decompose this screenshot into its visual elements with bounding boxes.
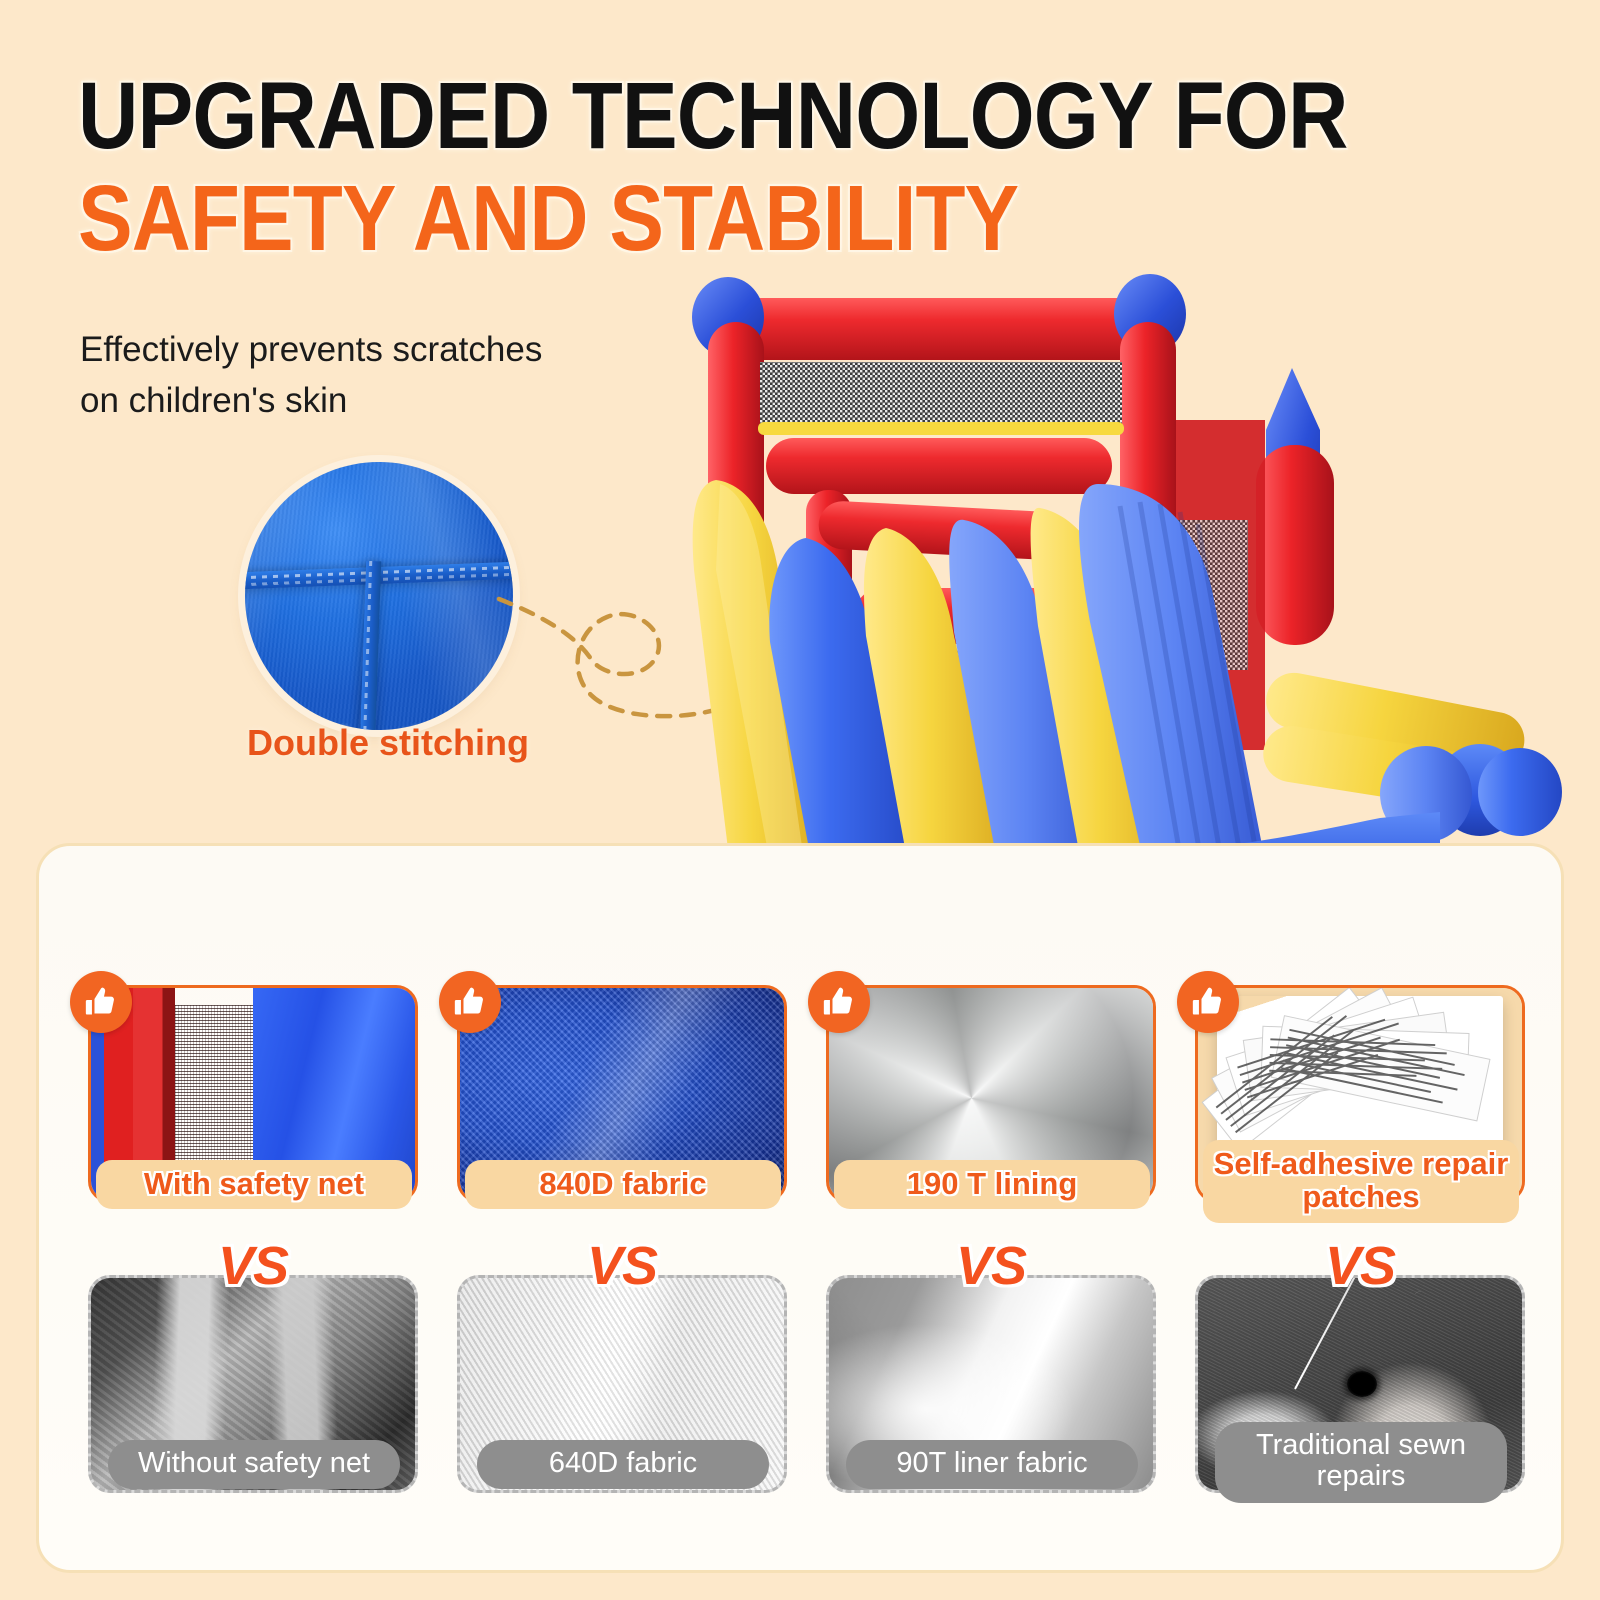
comparison-column-fabric-denier: 840D fabric VS 640D fabric xyxy=(451,985,796,1545)
castle-turret xyxy=(1256,368,1334,645)
title-line-accent: SAFETY AND STABILITY xyxy=(78,173,1222,264)
subtitle-line-2: on children's skin xyxy=(80,376,700,427)
safety-net-mesh-upper xyxy=(760,362,1122,424)
vs-label-3: VS xyxy=(820,1235,1162,1297)
thumbs-up-icon xyxy=(1177,971,1239,1033)
bad-label-no-safety-net: Without safety net xyxy=(108,1440,400,1489)
comparison-column-repair: Self-adhesive repair patches VS Traditio… xyxy=(1189,985,1534,1545)
comparison-column-safety-net: With safety net VS Without safety net xyxy=(82,985,427,1545)
good-label-190t: 190 T lining xyxy=(834,1160,1150,1209)
yellow-trim-upper xyxy=(758,422,1124,435)
subtitle-line-1: Effectively prevents scratches xyxy=(80,325,700,376)
bad-label-640d: 640D fabric xyxy=(477,1440,769,1489)
good-label-repair-patches: Self-adhesive repair patches xyxy=(1203,1140,1519,1223)
thumbs-up-icon xyxy=(808,971,870,1033)
comparison-grid: With safety net VS Without safety net 84… xyxy=(82,985,1534,1545)
title-line-primary: UPGRADED TECHNOLOGY FOR xyxy=(78,70,1222,163)
thumbs-up-icon xyxy=(439,971,501,1033)
thumbs-up-icon xyxy=(70,971,132,1033)
page-title: UPGRADED TECHNOLOGY FOR SAFETY AND STABI… xyxy=(78,70,1378,264)
vs-label-2: VS xyxy=(451,1235,793,1297)
bad-label-90t: 90T liner fabric xyxy=(846,1440,1138,1489)
fabric-seam-closeup-icon xyxy=(245,462,513,730)
double-stitching-label: Double stitching xyxy=(228,722,548,764)
vs-label-4: VS xyxy=(1189,1235,1531,1297)
vs-label-1: VS xyxy=(82,1235,424,1297)
good-label-840d: 840D fabric xyxy=(465,1160,781,1209)
subtitle: Effectively prevents scratches on childr… xyxy=(80,325,700,427)
comparison-column-lining: 190 T lining VS 90T liner fabric xyxy=(820,985,1165,1545)
bad-label-sewn-repairs: Traditional sewn repairs xyxy=(1215,1422,1507,1503)
good-label-safety-net: With safety net xyxy=(96,1160,412,1209)
